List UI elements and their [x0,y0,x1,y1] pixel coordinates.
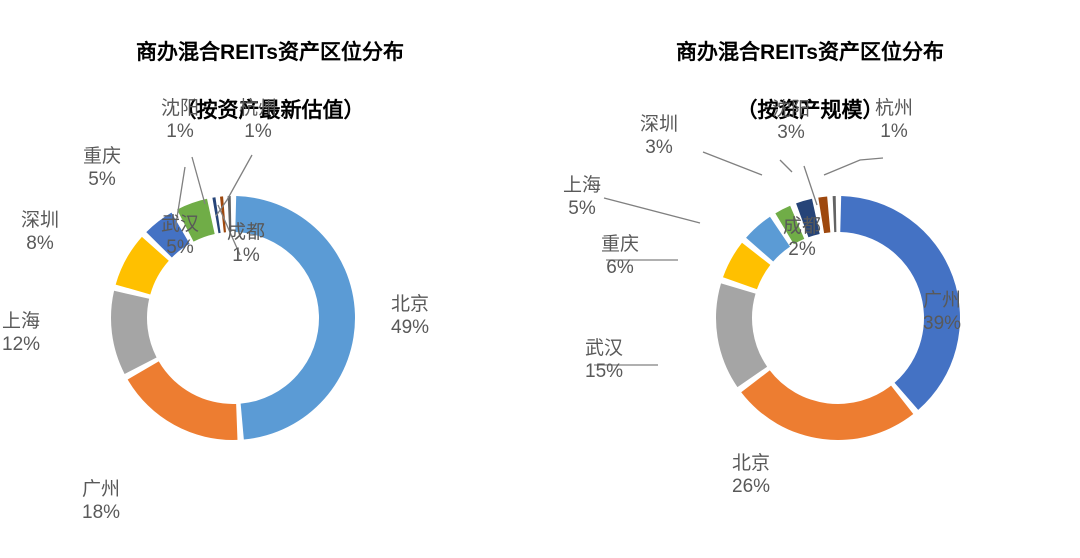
chart-panel-right: 商办混合REITs资产区位分布 （按资产规模） 广州 39% 北京 26% 武汉… [540,0,1080,558]
leader-line [604,198,700,223]
donut-slice[interactable] [128,361,238,440]
leader-line [192,157,205,204]
chart-canvas: 商办混合REITs资产区位分布 （按资产最新估值） 北京 49% 广州 18% … [0,0,1080,558]
donut-chart-right [540,0,1080,558]
donut-slices-right [716,196,960,440]
leader-line [703,152,762,175]
donut-slice[interactable] [716,283,767,387]
donut-slices-left [111,196,355,440]
leader-line [824,158,883,175]
chart-panel-left: 商办混合REITs资产区位分布 （按资产最新估值） 北京 49% 广州 18% … [0,0,540,558]
leader-line [780,160,792,172]
donut-slice[interactable] [741,370,913,440]
donut-chart-left [0,0,540,558]
donut-slice[interactable] [833,196,837,232]
donut-slice[interactable] [818,196,830,233]
donut-slice[interactable] [111,291,157,374]
donut-slice[interactable] [840,196,960,410]
donut-slice[interactable] [235,196,355,439]
